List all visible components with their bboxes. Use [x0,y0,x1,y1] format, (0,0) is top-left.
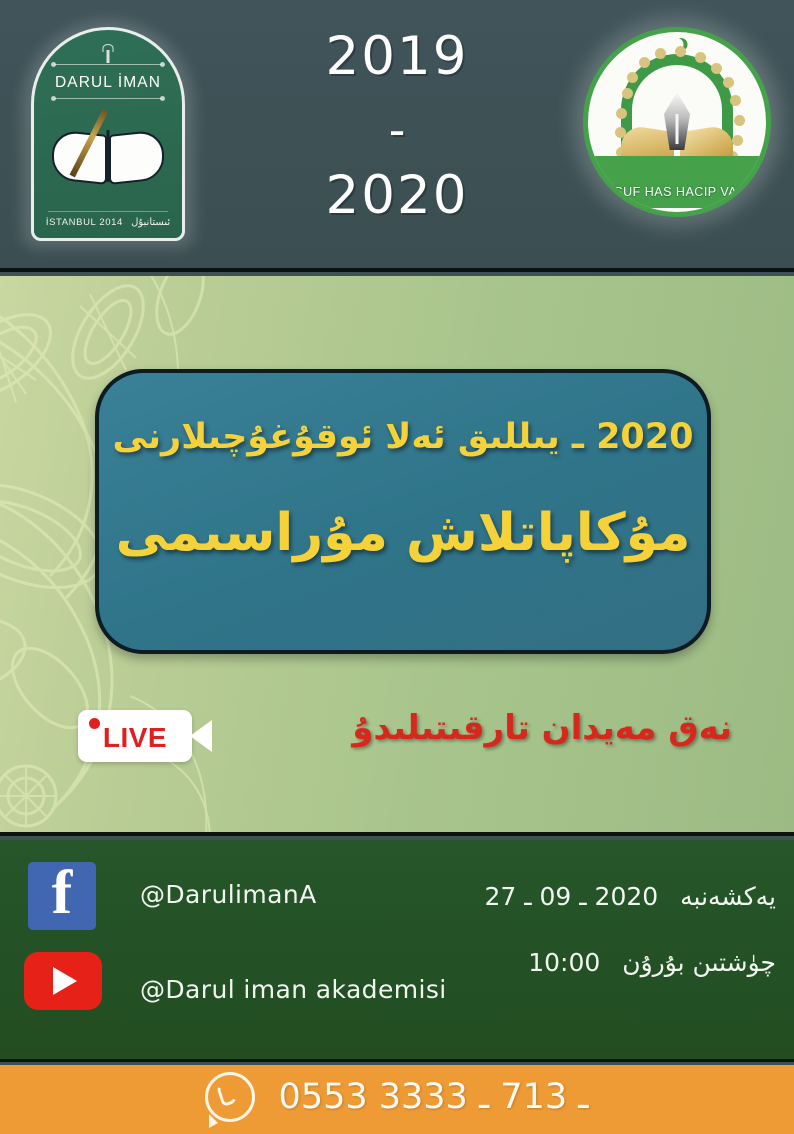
book-spine [107,130,110,182]
headline-panel: 2020 ـ يىللىق ئەلا ئوقۇغۇچىلارنى مۇكاپات… [95,369,711,654]
logo-year: 2014 [99,217,123,228]
shield-shape: DARUL İMAN İSTANBUL 2014 ئىستانبۇل [31,27,185,241]
poster-contact-section: f @DarulimanA @Darul iman akademisi يەكش… [0,840,794,1062]
whatsapp-icon[interactable] [205,1072,255,1122]
live-badge[interactable]: LIVE [78,710,192,762]
youtube-handle[interactable]: @Darul iman akademisi [140,975,447,1004]
poster-footer: 0553 ـ 713 ـ 3333 [0,1065,794,1134]
poster-header: DARUL İMAN İSTANBUL 2014 ئىستانبۇل 2019 … [0,0,794,272]
facebook-icon[interactable]: f [28,862,96,930]
play-triangle-icon [53,967,77,995]
seal-ring: يۇسۇپ خاس ھاجىپ YUSUF HAS HACIP VAKFI [583,27,771,217]
event-time-row: چۈشتىن بۇرۇن 10:00 [528,948,776,977]
phone-handset-icon [216,1081,239,1107]
facebook-handle[interactable]: @DarulimanA [140,880,317,909]
live-broadcast-row: LIVE نەق مەيدان تارقىتىلىدۇ [0,704,794,780]
academic-year-display: 2019 - 2020 [297,18,497,254]
logo-city-uyghur: ئىستانبۇل [131,217,170,228]
seal-arc-text: YUSUF HAS HACIP VAKFI [588,185,766,199]
minaret-icon [107,50,110,63]
year-to: 2020 [297,169,497,222]
contact-phone-number[interactable]: 0553 ـ 713 ـ 3333 [279,1077,589,1117]
event-date-row: يەكشەنبە 2020 ـ 09 ـ 27 [484,882,776,911]
yusuf-has-hacip-logo: يۇسۇپ خاس ھاجىپ YUSUF HAS HACIP VAKFI [578,22,776,222]
youtube-icon[interactable] [24,952,102,1010]
logo-footer-divider [48,211,168,212]
logo-brand-text: DARUL İMAN [34,74,182,92]
open-book-icon [52,126,164,188]
flourish-divider-top [54,64,162,65]
poster-main: 2020 ـ يىللىق ئەلا ئوقۇغۇچىلارنى مۇكاپات… [0,276,794,836]
headline-line-2: مۇكاپاتلاش مۇراسىمى [99,503,707,563]
event-weekday-label: يەكشەنبە [680,882,776,911]
darul-iman-logo: DARUL İMAN İSTANBUL 2014 ئىستانبۇل [22,20,194,248]
headline-line-1: 2020 ـ يىللىق ئەلا ئوقۇغۇچىلارنى [99,417,707,457]
logo-city: İSTANBUL [46,217,96,228]
year-from: 2019 [297,30,497,83]
event-time-value: 10:00 [528,948,600,977]
event-daypart-label: چۈشتىن بۇرۇن [622,948,776,977]
seal-arc-band [592,156,762,208]
video-camera-icon [190,720,212,752]
live-badge-label: LIVE [78,722,192,754]
flourish-divider-bottom [54,98,162,99]
event-poster: DARUL İMAN İSTANBUL 2014 ئىستانبۇل 2019 … [0,0,794,1134]
book-page-right [109,129,164,185]
logo-footer-text: İSTANBUL 2014 ئىستانبۇل [34,217,182,228]
live-broadcast-text: نەق مەيدان تارقىتىلىدۇ [352,708,732,748]
year-separator: - [297,107,497,153]
footer-contact: 0553 ـ 713 ـ 3333 [0,1072,794,1122]
event-date-value: 2020 ـ 09 ـ 27 [484,882,658,911]
